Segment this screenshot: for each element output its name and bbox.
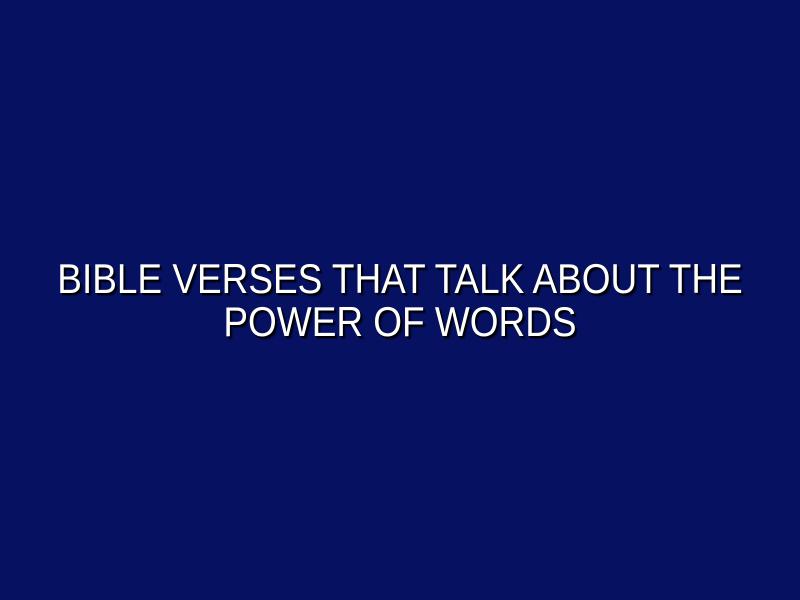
title-line-2: POWER OF WORDS — [48, 300, 752, 343]
page-title: BIBLE VERSES THAT TALK ABOUT THE POWER O… — [0, 0, 800, 600]
title-line-1: BIBLE VERSES THAT TALK ABOUT THE — [48, 257, 752, 300]
slide-canvas: BIBLE VERSES THAT TALK ABOUT THE POWER O… — [0, 0, 800, 600]
